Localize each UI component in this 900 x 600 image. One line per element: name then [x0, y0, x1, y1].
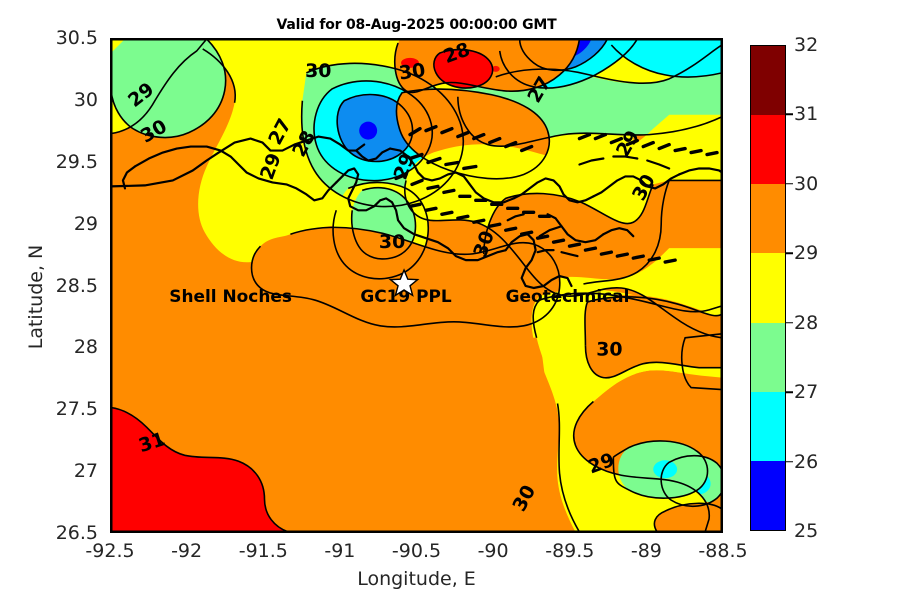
- y-tick-label: 27: [38, 460, 98, 482]
- colorbar-tick-label: 25: [794, 520, 818, 542]
- band-25-26-core-dot: [359, 122, 377, 140]
- contour-map-svg: 29 30 30 28 30 27 28 29 27 29 30 29 30 3…: [111, 39, 722, 532]
- x-tick-label: -89: [631, 540, 662, 562]
- x-tick-label: -89.5: [545, 540, 594, 562]
- y-axis-label: Latitude, N: [25, 197, 47, 397]
- x-tick-label: -91.5: [239, 540, 288, 562]
- colorbar-band-27-28: [751, 323, 785, 392]
- colorbar-tick: [786, 322, 793, 324]
- band-26-27-lr-core: [653, 460, 677, 478]
- page-title: Valid for 08-Aug-2025 00:00:00 GMT: [110, 17, 723, 33]
- colorbar-band-30-31: [751, 115, 785, 184]
- colorbar-tick: [786, 253, 793, 255]
- colorbar-band-below-25: [751, 461, 785, 530]
- colorbar-band-31-32: [751, 46, 785, 115]
- x-tick-label: -90: [478, 540, 509, 562]
- x-tick-label: -88.5: [698, 540, 747, 562]
- contour-label: 30: [596, 339, 622, 361]
- colorbar-tick: [786, 461, 793, 463]
- x-tick-label: -92.5: [85, 540, 134, 562]
- y-tick-label: 28.5: [38, 275, 98, 297]
- colorbar-tick-label: 30: [794, 173, 818, 195]
- colorbar-tick-label: 27: [794, 381, 818, 403]
- y-tick-label: 28: [38, 336, 98, 358]
- x-axis-label: Longitude, E: [110, 568, 723, 590]
- contour-map-plot: 29 30 30 28 30 27 28 29 27 29 30 29 30 3…: [110, 38, 723, 533]
- colorbar-tick-label: 29: [794, 242, 818, 264]
- x-tick-label: -91: [324, 540, 355, 562]
- colorbar: [750, 45, 786, 531]
- colorbar-band-28-29: [751, 253, 785, 322]
- colorbar-tick: [786, 183, 793, 185]
- y-tick-label: 30.5: [38, 27, 98, 49]
- x-tick-label: -90.5: [392, 540, 441, 562]
- colorbar-tick-label: 28: [794, 312, 818, 334]
- colorbar-tick-label: 26: [794, 451, 818, 473]
- x-tick-label: -92: [171, 540, 202, 562]
- colorbar-tick: [786, 114, 793, 116]
- colorbar-tick-label: 31: [794, 103, 818, 125]
- y-tick-label: 29: [38, 213, 98, 235]
- contour-label: 30: [379, 231, 405, 253]
- colorbar-band-26-27: [751, 392, 785, 461]
- colorbar-band-29-30: [751, 184, 785, 253]
- colorbar-tick-label: 32: [794, 34, 818, 56]
- y-tick-label: 30: [38, 89, 98, 111]
- station-label-geotechnical: Geotechnical: [506, 286, 630, 306]
- y-tick-label: 29.5: [38, 151, 98, 173]
- station-label-shell-noches: Shell Noches: [169, 286, 292, 306]
- colorbar-tick: [786, 391, 793, 393]
- y-tick-label: 27.5: [38, 398, 98, 420]
- contour-label: 30: [305, 60, 331, 82]
- contour-label: 30: [398, 59, 427, 84]
